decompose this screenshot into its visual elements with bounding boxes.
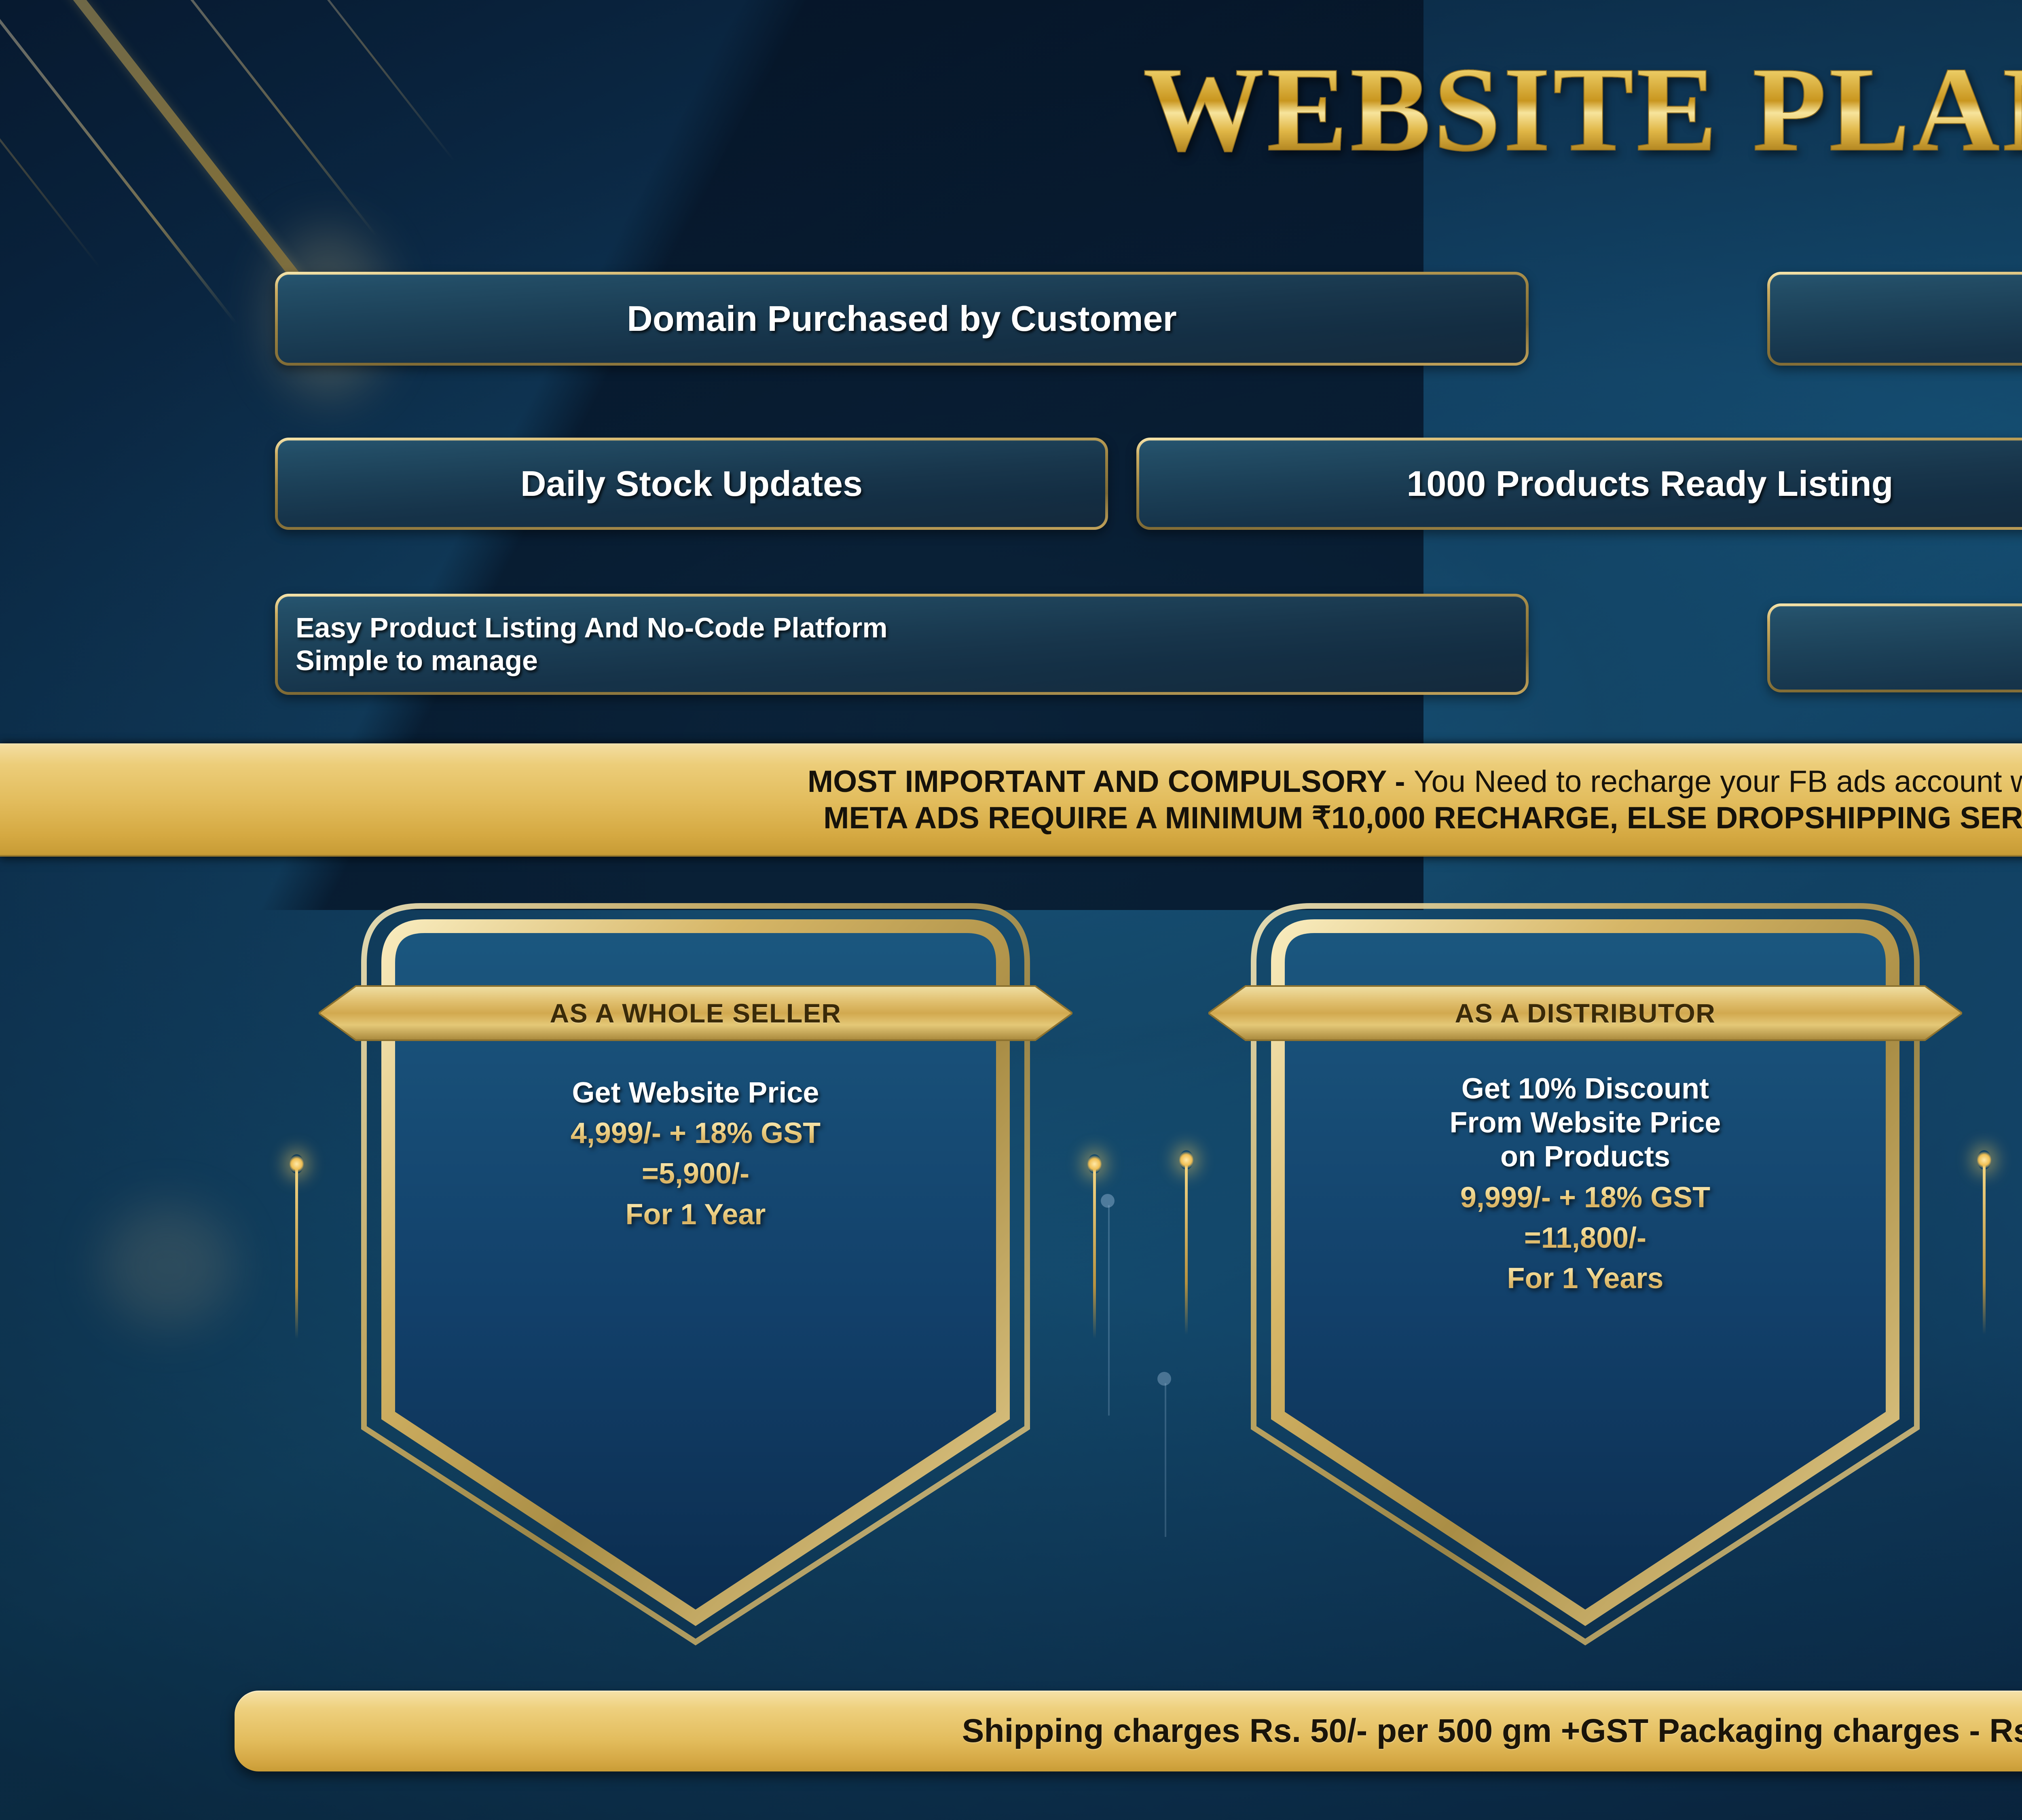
notice-line-1: MOST IMPORTANT AND COMPULSORY - You Need…	[808, 764, 2022, 800]
shipping-charges-text: Shipping charges Rs. 50/- per 500 gm +GS…	[962, 1712, 2022, 1750]
compulsory-notice-banner: MOST IMPORTANT AND COMPULSORY - You Need…	[0, 743, 2022, 857]
feature-box-google-ads-meta-pixel: Google Ads & Meta Pixel Integration	[1767, 603, 2022, 692]
feature-box-daily-stock-updates: Daily Stock Updates	[275, 438, 1108, 530]
feature-box-order-management-panel: Order Management Panel	[1767, 272, 2022, 366]
feature-label: Domain Purchased by Customer	[278, 298, 1526, 339]
glow-pin-icon	[1983, 1161, 1986, 1335]
plan-content-whole-seller: Get Website Price 4,999/- + 18% GST =5,9…	[404, 1076, 987, 1232]
glow-pin-icon	[295, 1165, 298, 1339]
notice-line-1-bold: MOST IMPORTANT AND COMPULSORY -	[808, 764, 1414, 799]
plan-price-line: 9,999/- + 18% GST	[1293, 1181, 1877, 1215]
shipping-charges-banner: Shipping charges Rs. 50/- per 500 gm +GS…	[235, 1691, 2022, 1771]
page-title-container: WEBSITE PLAN	[0, 49, 2022, 170]
feature-sublabel: Simple to manage	[278, 644, 1526, 677]
plan-price-line: 4,999/- + 18% GST	[404, 1116, 987, 1150]
feature-box-domain-purchased: Domain Purchased by Customer	[275, 272, 1529, 366]
plan-white-line: From Website Price	[1293, 1106, 1877, 1140]
notice-line-1-rest: You Need to recharge your FB ads account…	[1414, 764, 2022, 799]
plan-total-line: =11,800/-	[1293, 1221, 1877, 1255]
plan-duration-line: For 1 Year	[404, 1198, 987, 1232]
feature-label: Google Ads & Meta Pixel Integration	[1770, 627, 2022, 669]
plan-white-line: Get Website Price	[404, 1076, 987, 1110]
plan-ribbon-label: AS A WHOLE SELLER	[319, 983, 1072, 1043]
plan-card-whole-seller[interactable]: AS A WHOLE SELLER Get Website Price 4,99…	[340, 902, 1051, 1642]
notice-line-2: META ADS REQUIRE A MINIMUM ₹10,000 RECHA…	[823, 800, 2022, 836]
plan-ribbon-whole-seller: AS A WHOLE SELLER	[319, 983, 1072, 1043]
plan-white-line: Get 10% Discount	[1293, 1072, 1877, 1106]
glow-pin-icon	[1093, 1165, 1096, 1339]
feature-label: Daily Stock Updates	[278, 463, 1105, 504]
feature-box-products-ready-listing: 1000 Products Ready Listing	[1136, 438, 2022, 530]
plan-total-line: =5,900/-	[404, 1157, 987, 1191]
feature-label: Order Management Panel	[1770, 298, 2022, 339]
plan-content-distributor: Get 10% Discount From Website Price on P…	[1293, 1072, 1877, 1295]
feature-label: Easy Product Listing And No-Code Platfor…	[278, 612, 1526, 644]
plan-duration-line: For 1 Years	[1293, 1261, 1877, 1295]
plan-white-line: on Products	[1293, 1140, 1877, 1174]
plan-ribbon-label: AS A DISTRIBUTOR	[1208, 983, 1962, 1043]
plan-ribbon-distributor: AS A DISTRIBUTOR	[1208, 983, 1962, 1043]
feature-label: 1000 Products Ready Listing	[1139, 463, 2022, 504]
glow-pin-icon	[1185, 1161, 1188, 1335]
feature-box-easy-product-listing: Easy Product Listing And No-Code Platfor…	[275, 594, 1529, 695]
page-title: WEBSITE PLAN	[1143, 49, 2022, 170]
plan-card-distributor[interactable]: AS A DISTRIBUTOR Get 10% Discount From W…	[1229, 902, 1941, 1642]
